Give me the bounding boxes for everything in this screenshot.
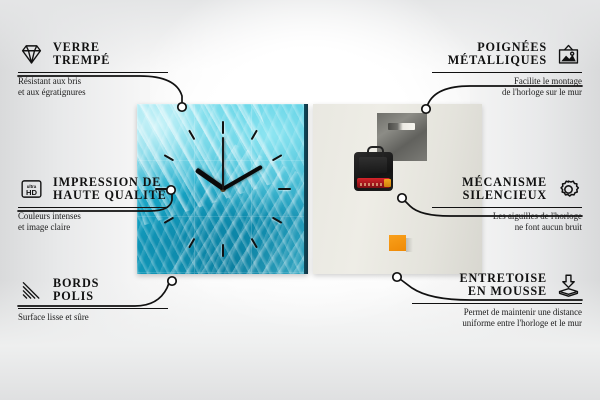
feature-title: POLIS — [53, 290, 99, 303]
feature-subtitle: Facilite le montage — [432, 76, 582, 87]
feature-title: IMPRESSION DE — [53, 176, 167, 189]
feature-subtitle: ne font aucun bruit — [432, 222, 582, 233]
feature-subtitle: Permet de maintenir une distance — [412, 307, 582, 318]
product-photo — [137, 104, 482, 274]
feature-title: SILENCIEUX — [462, 189, 547, 202]
polished-edge-icon — [18, 277, 45, 303]
feature-subtitle: Résistant aux bris — [18, 76, 168, 87]
svg-text:HD: HD — [26, 188, 38, 197]
foam-spacer-icon — [555, 272, 582, 298]
foam-spacer-shadow — [406, 238, 413, 252]
feature-subtitle: de l'horloge sur le mur — [432, 87, 582, 98]
feature-title: HAUTE QUALITÉ — [53, 189, 167, 202]
feature-rule — [18, 207, 168, 209]
feature-bords-polis: BORDS POLIS Surface lisse et sûre — [18, 277, 168, 323]
feature-entretoise-en-mousse: ENTRETOISE EN MOUSSE Permet de maintenir… — [412, 272, 582, 329]
picture-hanger-icon — [555, 41, 582, 67]
feature-subtitle: et aux égratignures — [18, 87, 168, 98]
infographic-canvas: VERRE TREMPÉ Résistant aux bris et aux é… — [0, 0, 600, 400]
feature-subtitle: et image claire — [18, 222, 168, 233]
gear-icon — [555, 176, 582, 202]
foam-spacer — [389, 235, 406, 251]
feature-rule — [432, 207, 582, 209]
feature-mecanisme-silencieux: MÉCANISME SILENCIEUX Les aiguilles de l'… — [432, 176, 582, 233]
feature-rule — [18, 308, 168, 310]
feature-subtitle: uniforme entre l'horloge et le mur — [412, 318, 582, 329]
feature-title: TREMPÉ — [53, 54, 110, 67]
feature-subtitle: Surface lisse et sûre — [18, 312, 168, 323]
feature-subtitle: Les aiguilles de l'horloge — [432, 211, 582, 222]
feature-impression-haute-qualite: ultra HD IMPRESSION DE HAUTE QUALITÉ Cou… — [18, 176, 168, 233]
battery — [357, 178, 390, 188]
diamond-icon — [18, 41, 45, 67]
feature-title: MÉTALLIQUES — [448, 54, 547, 67]
feature-verre-trempe: VERRE TREMPÉ Résistant aux bris et aux é… — [18, 41, 168, 98]
feature-rule — [432, 72, 582, 74]
feature-subtitle: Couleurs intenses — [18, 211, 168, 222]
feature-title: BORDS — [53, 277, 99, 290]
glass-edge-right — [304, 104, 308, 274]
feature-title: POIGNÉES — [448, 41, 547, 54]
feature-poignees-metalliques: POIGNÉES MÉTALLIQUES Facilite le montage… — [432, 41, 582, 98]
feature-rule — [412, 303, 582, 305]
feature-title: ENTRETOISE — [459, 272, 547, 285]
ultra-hd-icon: ultra HD — [18, 176, 45, 202]
feature-title: VERRE — [53, 41, 110, 54]
clock-mechanism — [354, 152, 393, 191]
feature-title: EN MOUSSE — [459, 285, 547, 298]
feature-title: MÉCANISME — [462, 176, 547, 189]
feature-rule — [18, 72, 168, 74]
